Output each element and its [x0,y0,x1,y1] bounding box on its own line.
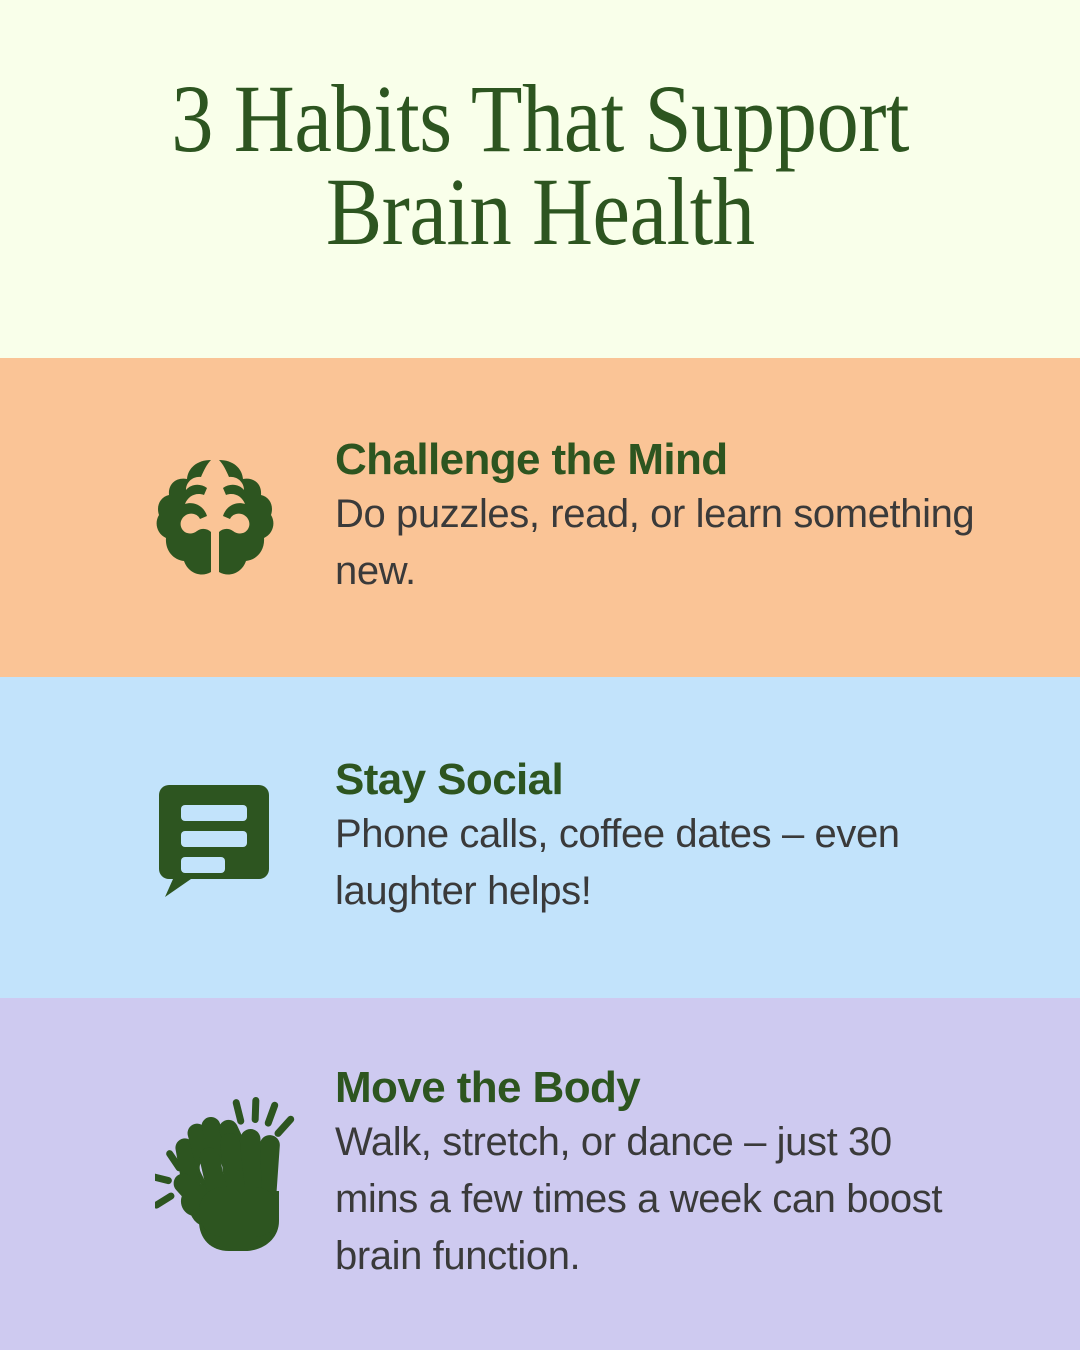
habit-text-slot: Challenge the Mind Do puzzles, read, or … [335,435,975,600]
habit-title: Move the Body [335,1063,975,1112]
habit-description: Do puzzles, read, or learn something new… [335,486,975,600]
habit-text-slot: Stay Social Phone calls, coffee dates – … [335,755,975,920]
brain-icon [155,452,275,584]
speech-bubble-icon [155,777,271,899]
page-title: 3 Habits That Support Brain Health [171,72,909,258]
habit-icon-slot [155,1095,335,1253]
habit-description: Phone calls, coffee dates – even laughte… [335,806,975,920]
habit-row-challenge-the-mind: Challenge the Mind Do puzzles, read, or … [0,358,1080,677]
infographic-poster: 3 Habits That Support Brain Health Chall… [0,0,1080,1350]
habit-text-slot: Move the Body Walk, stretch, or dance – … [335,1063,975,1285]
habit-icon-slot [155,452,335,584]
clapping-hands-icon [155,1095,295,1253]
habit-title: Stay Social [335,755,975,804]
habit-row-move-the-body: Move the Body Walk, stretch, or dance – … [0,998,1080,1350]
habit-icon-slot [155,777,335,899]
habit-row-stay-social: Stay Social Phone calls, coffee dates – … [0,677,1080,998]
habit-description: Walk, stretch, or dance – just 30 mins a… [335,1114,975,1284]
header-band: 3 Habits That Support Brain Health [0,0,1080,358]
habit-title: Challenge the Mind [335,435,975,484]
